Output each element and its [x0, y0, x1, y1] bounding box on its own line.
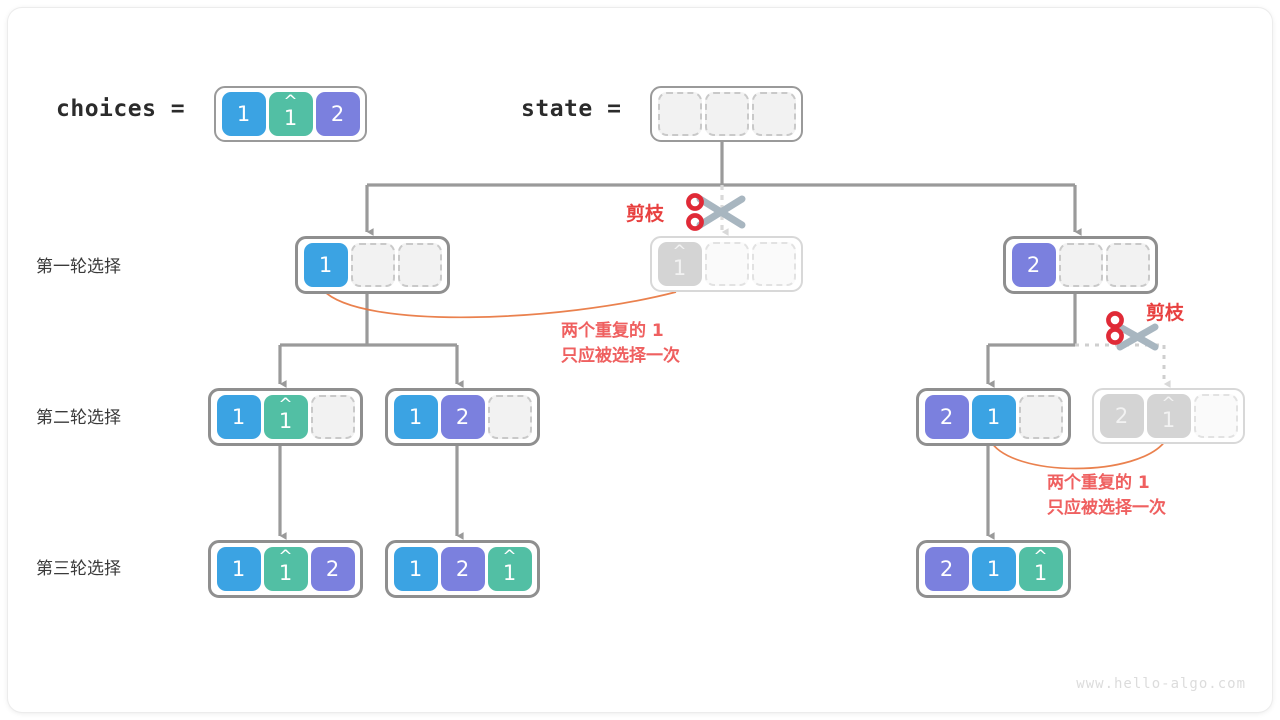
cell-value: 1	[409, 405, 422, 429]
hat-marker-icon: ^	[278, 549, 292, 566]
node-r2-n3: 21	[916, 388, 1071, 446]
node-r2-n4-pruned: 2^1	[1092, 388, 1245, 444]
cell-value: 1	[319, 253, 332, 277]
cell: ^1	[269, 92, 313, 136]
cell: 2	[316, 92, 360, 136]
hat-marker-icon: ^	[502, 549, 516, 566]
cell-value: 2	[326, 557, 339, 581]
cell-value: 2	[940, 557, 953, 581]
cell	[488, 395, 532, 439]
hat-marker-icon: ^	[278, 397, 292, 414]
cell	[398, 243, 442, 287]
cell: ^1	[1019, 547, 1063, 591]
duplicate-note-2-line1: 两个重复的 1	[1047, 471, 1166, 496]
state-array	[650, 86, 803, 142]
cell: ^1	[658, 242, 702, 286]
cell: 2	[1100, 394, 1144, 438]
cell	[1106, 243, 1150, 287]
cell	[752, 92, 796, 136]
cell: 1	[394, 395, 438, 439]
cell-value: 2	[1115, 404, 1128, 428]
cell-value: 2	[1027, 253, 1040, 277]
node-r3-n1: 1^12	[208, 540, 363, 598]
cell: 2	[441, 395, 485, 439]
duplicate-note-1: 两个重复的 1 只应被选择一次	[561, 319, 680, 368]
cell	[705, 92, 749, 136]
node-r2-n2: 12	[385, 388, 540, 446]
cell: 1	[222, 92, 266, 136]
cell: ^1	[1147, 394, 1191, 438]
cell-value: 1	[987, 405, 1000, 429]
node-r1-n2-pruned: ^1	[650, 236, 803, 292]
hat-marker-icon: ^	[283, 94, 297, 111]
cell-value: 1	[409, 557, 422, 581]
cell: 2	[1012, 243, 1056, 287]
cell-value: 2	[456, 405, 469, 429]
choices-array: 1^12	[214, 86, 367, 142]
cell	[1194, 394, 1238, 438]
cell	[752, 242, 796, 286]
cell: ^1	[488, 547, 532, 591]
duplicate-note-2: 两个重复的 1 只应被选择一次	[1047, 471, 1166, 520]
cell: 2	[925, 395, 969, 439]
cell-value: 2	[331, 102, 344, 126]
cell: 1	[304, 243, 348, 287]
cell: ^1	[264, 547, 308, 591]
cell	[1019, 395, 1063, 439]
node-r1-n3: 2	[1003, 236, 1158, 294]
cell: 1	[217, 547, 261, 591]
cell: 2	[441, 547, 485, 591]
node-r1-n1: 1	[295, 236, 450, 294]
cell	[351, 243, 395, 287]
cell: 1	[972, 547, 1016, 591]
prune-label-2: 剪枝	[1146, 298, 1184, 325]
prune-label-1: 剪枝	[626, 199, 664, 226]
cell: 1	[972, 395, 1016, 439]
node-r2-n1: 1^1	[208, 388, 363, 446]
cell: ^1	[264, 395, 308, 439]
row-label-3: 第三轮选择	[36, 554, 121, 579]
duplicate-note-1-line2: 只应被选择一次	[561, 344, 680, 369]
row-label-2: 第二轮选择	[36, 403, 121, 428]
choices-label: choices =	[56, 96, 185, 122]
cell: 1	[394, 547, 438, 591]
cell-value: 1	[987, 557, 1000, 581]
cell-value: 1	[232, 557, 245, 581]
watermark: www.hello-algo.com	[1076, 676, 1246, 692]
cell: 2	[925, 547, 969, 591]
cell	[1059, 243, 1103, 287]
node-r3-n2: 12^1	[385, 540, 540, 598]
cell-value: 1	[232, 405, 245, 429]
state-label: state =	[521, 96, 621, 122]
cell	[705, 242, 749, 286]
node-r3-n3: 21^1	[916, 540, 1071, 598]
cell-value: 2	[940, 405, 953, 429]
cell-value: 1	[237, 102, 250, 126]
cell	[311, 395, 355, 439]
hat-marker-icon: ^	[1161, 396, 1175, 413]
cell: 1	[217, 395, 261, 439]
row-label-1: 第一轮选择	[36, 252, 121, 277]
duplicate-note-1-line1: 两个重复的 1	[561, 319, 680, 344]
hat-marker-icon: ^	[672, 244, 686, 261]
cell-value: 2	[456, 557, 469, 581]
diagram-canvas: choices = state = 1^12 第一轮选择 第二轮选择 第三轮选择…	[0, 0, 1280, 720]
hat-marker-icon: ^	[1033, 549, 1047, 566]
cell: 2	[311, 547, 355, 591]
duplicate-note-2-line2: 只应被选择一次	[1047, 496, 1166, 521]
cell	[658, 92, 702, 136]
